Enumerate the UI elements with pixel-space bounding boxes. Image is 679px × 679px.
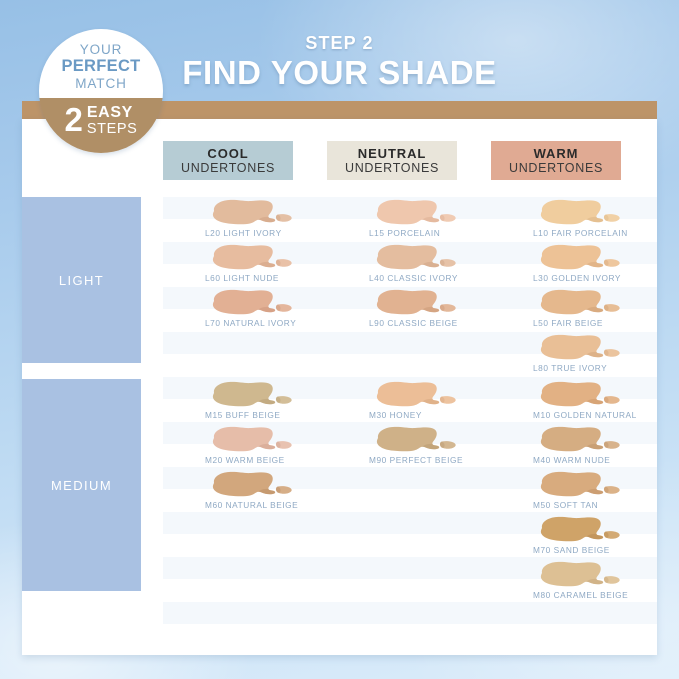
- badge-word-steps: STEPS: [87, 121, 138, 137]
- badge-line-match: MATCH: [75, 76, 127, 92]
- group-label-light: LIGHT: [22, 197, 141, 363]
- foundation-swatch-icon: [532, 197, 624, 228]
- foundation-swatch-icon: [368, 379, 460, 410]
- undertone-header-title: NEUTRAL: [358, 146, 426, 161]
- foundation-swatch-icon: [368, 287, 460, 318]
- shade-cell[interactable]: L60 LIGHT NUDE: [196, 242, 346, 287]
- foundation-swatch-icon: [368, 424, 460, 455]
- foundation-swatch-icon: [532, 332, 624, 363]
- foundation-swatch-icon: [204, 424, 296, 455]
- shade-name-label: M30 HONEY: [369, 410, 422, 420]
- shade-cell[interactable]: L30 GOLDEN IVORY: [524, 242, 657, 287]
- group-label-medium: MEDIUM: [22, 379, 141, 591]
- shade-cell[interactable]: L50 FAIR BEIGE: [524, 287, 657, 332]
- shade-cell[interactable]: L15 PORCELAIN: [360, 197, 510, 242]
- foundation-swatch-icon: [204, 242, 296, 273]
- shade-cell[interactable]: M70 SAND BEIGE: [524, 514, 657, 559]
- foundation-swatch-icon: [204, 287, 296, 318]
- shade-name-label: M60 NATURAL BEIGE: [205, 500, 298, 510]
- shade-name-label: L10 FAIR PORCELAIN: [533, 228, 628, 238]
- foundation-swatch-icon: [532, 559, 624, 590]
- shade-name-label: L70 NATURAL IVORY: [205, 318, 296, 328]
- shade-name-label: M50 SOFT TAN: [533, 500, 598, 510]
- foundation-swatch-icon: [532, 379, 624, 410]
- undertone-header-neutral[interactable]: NEUTRALUNDERTONES: [327, 141, 457, 180]
- shade-cell[interactable]: L10 FAIR PORCELAIN: [524, 197, 657, 242]
- shade-cell[interactable]: L90 CLASSIC BEIGE: [360, 287, 510, 332]
- badge-word-easy: EASY: [87, 105, 133, 121]
- shade-name-label: M70 SAND BEIGE: [533, 545, 610, 555]
- shade-cell[interactable]: M50 SOFT TAN: [524, 469, 657, 514]
- shade-cell[interactable]: M60 NATURAL BEIGE: [196, 469, 346, 514]
- shade-name-label: M10 GOLDEN NATURAL: [533, 410, 637, 420]
- foundation-swatch-icon: [204, 379, 296, 410]
- foundation-swatch-icon: [368, 242, 460, 273]
- badge-step-number: 2: [65, 103, 83, 137]
- shade-cell[interactable]: M10 GOLDEN NATURAL: [524, 379, 657, 424]
- badge-step-words: EASY STEPS: [87, 103, 138, 137]
- shade-cell[interactable]: M15 BUFF BEIGE: [196, 379, 346, 424]
- shade-name-label: L15 PORCELAIN: [369, 228, 440, 238]
- shade-cell[interactable]: M80 CARAMEL BEIGE: [524, 559, 657, 604]
- row-stripe: [163, 602, 657, 624]
- shade-grid: LIGHTMEDIUML20 LIGHT IVORYL60 LIGHT NUDE…: [22, 119, 657, 655]
- shade-cell[interactable]: M20 WARM BEIGE: [196, 424, 346, 469]
- shade-name-label: L50 FAIR BEIGE: [533, 318, 603, 328]
- foundation-swatch-icon: [532, 469, 624, 500]
- undertone-header-warm[interactable]: WARMUNDERTONES: [491, 141, 621, 180]
- badge-line-your: YOUR: [80, 42, 123, 57]
- undertone-header-cool[interactable]: COOLUNDERTONES: [163, 141, 293, 180]
- foundation-swatch-icon: [204, 469, 296, 500]
- shade-name-label: M80 CARAMEL BEIGE: [533, 590, 628, 600]
- foundation-swatch-icon: [532, 242, 624, 273]
- badge-line-perfect: PERFECT: [61, 57, 140, 76]
- undertone-header-subtitle: UNDERTONES: [181, 161, 275, 176]
- shade-cell[interactable]: L20 LIGHT IVORY: [196, 197, 346, 242]
- shade-cell[interactable]: M30 HONEY: [360, 379, 510, 424]
- shade-name-label: L20 LIGHT IVORY: [205, 228, 282, 238]
- shade-name-label: L40 CLASSIC IVORY: [369, 273, 458, 283]
- shade-name-label: L90 CLASSIC BEIGE: [369, 318, 458, 328]
- foundation-swatch-icon: [532, 287, 624, 318]
- perfect-match-badge: YOUR PERFECT MATCH 2 EASY STEPS: [39, 29, 163, 153]
- badge-top-half: YOUR PERFECT MATCH: [39, 29, 163, 98]
- foundation-swatch-icon: [368, 197, 460, 228]
- undertone-header-subtitle: UNDERTONES: [345, 161, 439, 176]
- foundation-swatch-icon: [204, 197, 296, 228]
- foundation-swatch-icon: [532, 424, 624, 455]
- shade-cell[interactable]: L70 NATURAL IVORY: [196, 287, 346, 332]
- undertone-header-subtitle: UNDERTONES: [509, 161, 603, 176]
- shade-cell[interactable]: M90 PERFECT BEIGE: [360, 424, 510, 469]
- shade-name-label: L60 LIGHT NUDE: [205, 273, 279, 283]
- shade-cell[interactable]: M40 WARM NUDE: [524, 424, 657, 469]
- shade-name-label: M40 WARM NUDE: [533, 455, 610, 465]
- shade-name-label: M90 PERFECT BEIGE: [369, 455, 463, 465]
- shade-name-label: M20 WARM BEIGE: [205, 455, 285, 465]
- shade-name-label: L30 GOLDEN IVORY: [533, 273, 621, 283]
- shade-cell[interactable]: L80 TRUE IVORY: [524, 332, 657, 377]
- shade-cell[interactable]: L40 CLASSIC IVORY: [360, 242, 510, 287]
- undertone-header-title: WARM: [534, 146, 579, 161]
- undertone-header-title: COOL: [207, 146, 248, 161]
- shade-name-label: M15 BUFF BEIGE: [205, 410, 280, 420]
- foundation-swatch-icon: [532, 514, 624, 545]
- badge-bottom-half: 2 EASY STEPS: [39, 98, 163, 153]
- shade-name-label: L80 TRUE IVORY: [533, 363, 607, 373]
